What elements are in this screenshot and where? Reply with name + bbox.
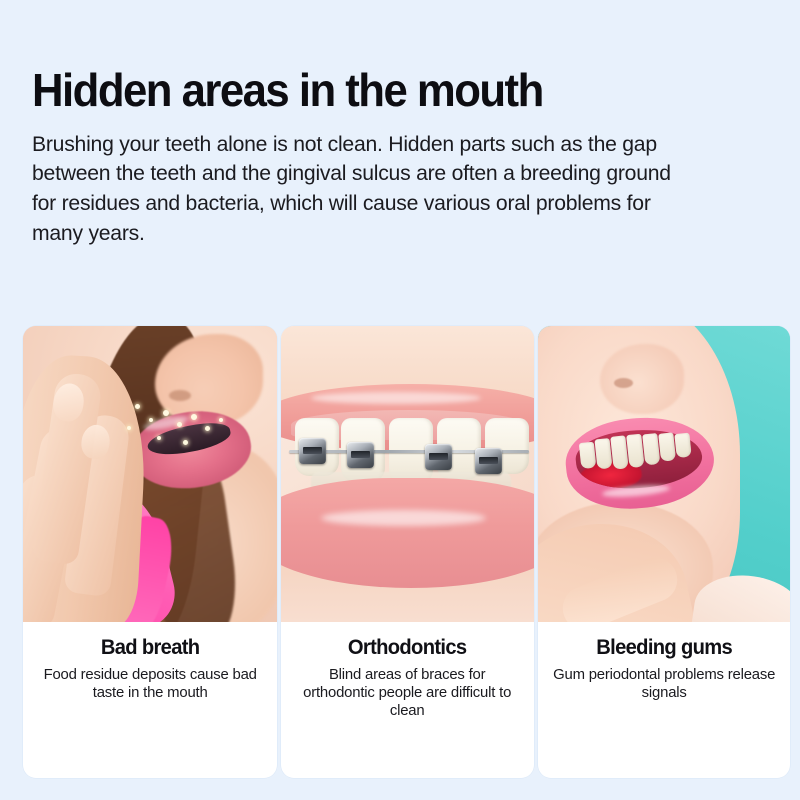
caption-bad-breath: Bad breath Food residue deposits cause b…	[23, 622, 277, 778]
intro-paragraph: Brushing your teeth alone is not clean. …	[32, 130, 694, 249]
tooth	[626, 434, 644, 468]
sparkle-dot	[157, 436, 161, 440]
sparkle-dot	[163, 410, 169, 416]
sparkle-dot	[135, 404, 140, 409]
photo-orthodontics	[281, 326, 533, 622]
card-description: Gum periodontal problems release signals	[550, 666, 778, 702]
braces-bracket	[347, 442, 374, 468]
card-orthodontics[interactable]: Orthodontics Blind areas of braces for o…	[281, 326, 533, 778]
page-title: Hidden areas in the mouth	[32, 66, 697, 116]
photo-bad-breath	[23, 326, 277, 622]
photo-bleeding-gums	[538, 326, 790, 622]
tooth	[610, 435, 628, 469]
header-section: Hidden areas in the mouth Brushing your …	[32, 66, 732, 248]
braces-bracket	[425, 444, 452, 470]
nostril-shape	[614, 378, 633, 388]
tooth	[594, 438, 612, 469]
sparkle-dot	[149, 418, 153, 422]
braces-bracket	[299, 438, 326, 464]
caption-bleeding-gums: Bleeding gums Gum periodontal problems r…	[538, 622, 790, 778]
upper-lip-highlight	[311, 392, 481, 404]
card-row: Bad breath Food residue deposits cause b…	[23, 326, 790, 778]
braces-bracket	[475, 448, 502, 474]
card-bleeding-gums[interactable]: Bleeding gums Gum periodontal problems r…	[538, 326, 790, 778]
sparkle-dot	[127, 426, 131, 430]
tooth	[674, 433, 691, 458]
tooth	[658, 432, 676, 461]
nose-shape	[600, 344, 684, 414]
nostril-shape	[169, 390, 191, 401]
card-title: Bad breath	[38, 636, 263, 659]
card-description: Food residue deposits cause bad taste in…	[35, 666, 265, 702]
card-title: Bleeding gums	[552, 636, 775, 659]
sparkle-dot	[219, 418, 223, 422]
card-title: Orthodontics	[296, 636, 519, 659]
card-bad-breath[interactable]: Bad breath Food residue deposits cause b…	[23, 326, 277, 778]
sparkle-dot	[205, 426, 210, 431]
caption-orthodontics: Orthodontics Blind areas of braces for o…	[281, 622, 533, 778]
lower-lip	[281, 478, 533, 588]
lower-lip-highlight	[321, 510, 486, 526]
sparkle-dot	[177, 422, 182, 427]
tooth	[642, 433, 660, 465]
sparkle-dot	[183, 440, 188, 445]
card-description: Blind areas of braces for orthodontic pe…	[294, 666, 522, 719]
tooth	[578, 442, 596, 469]
sparkle-dot	[191, 414, 197, 420]
